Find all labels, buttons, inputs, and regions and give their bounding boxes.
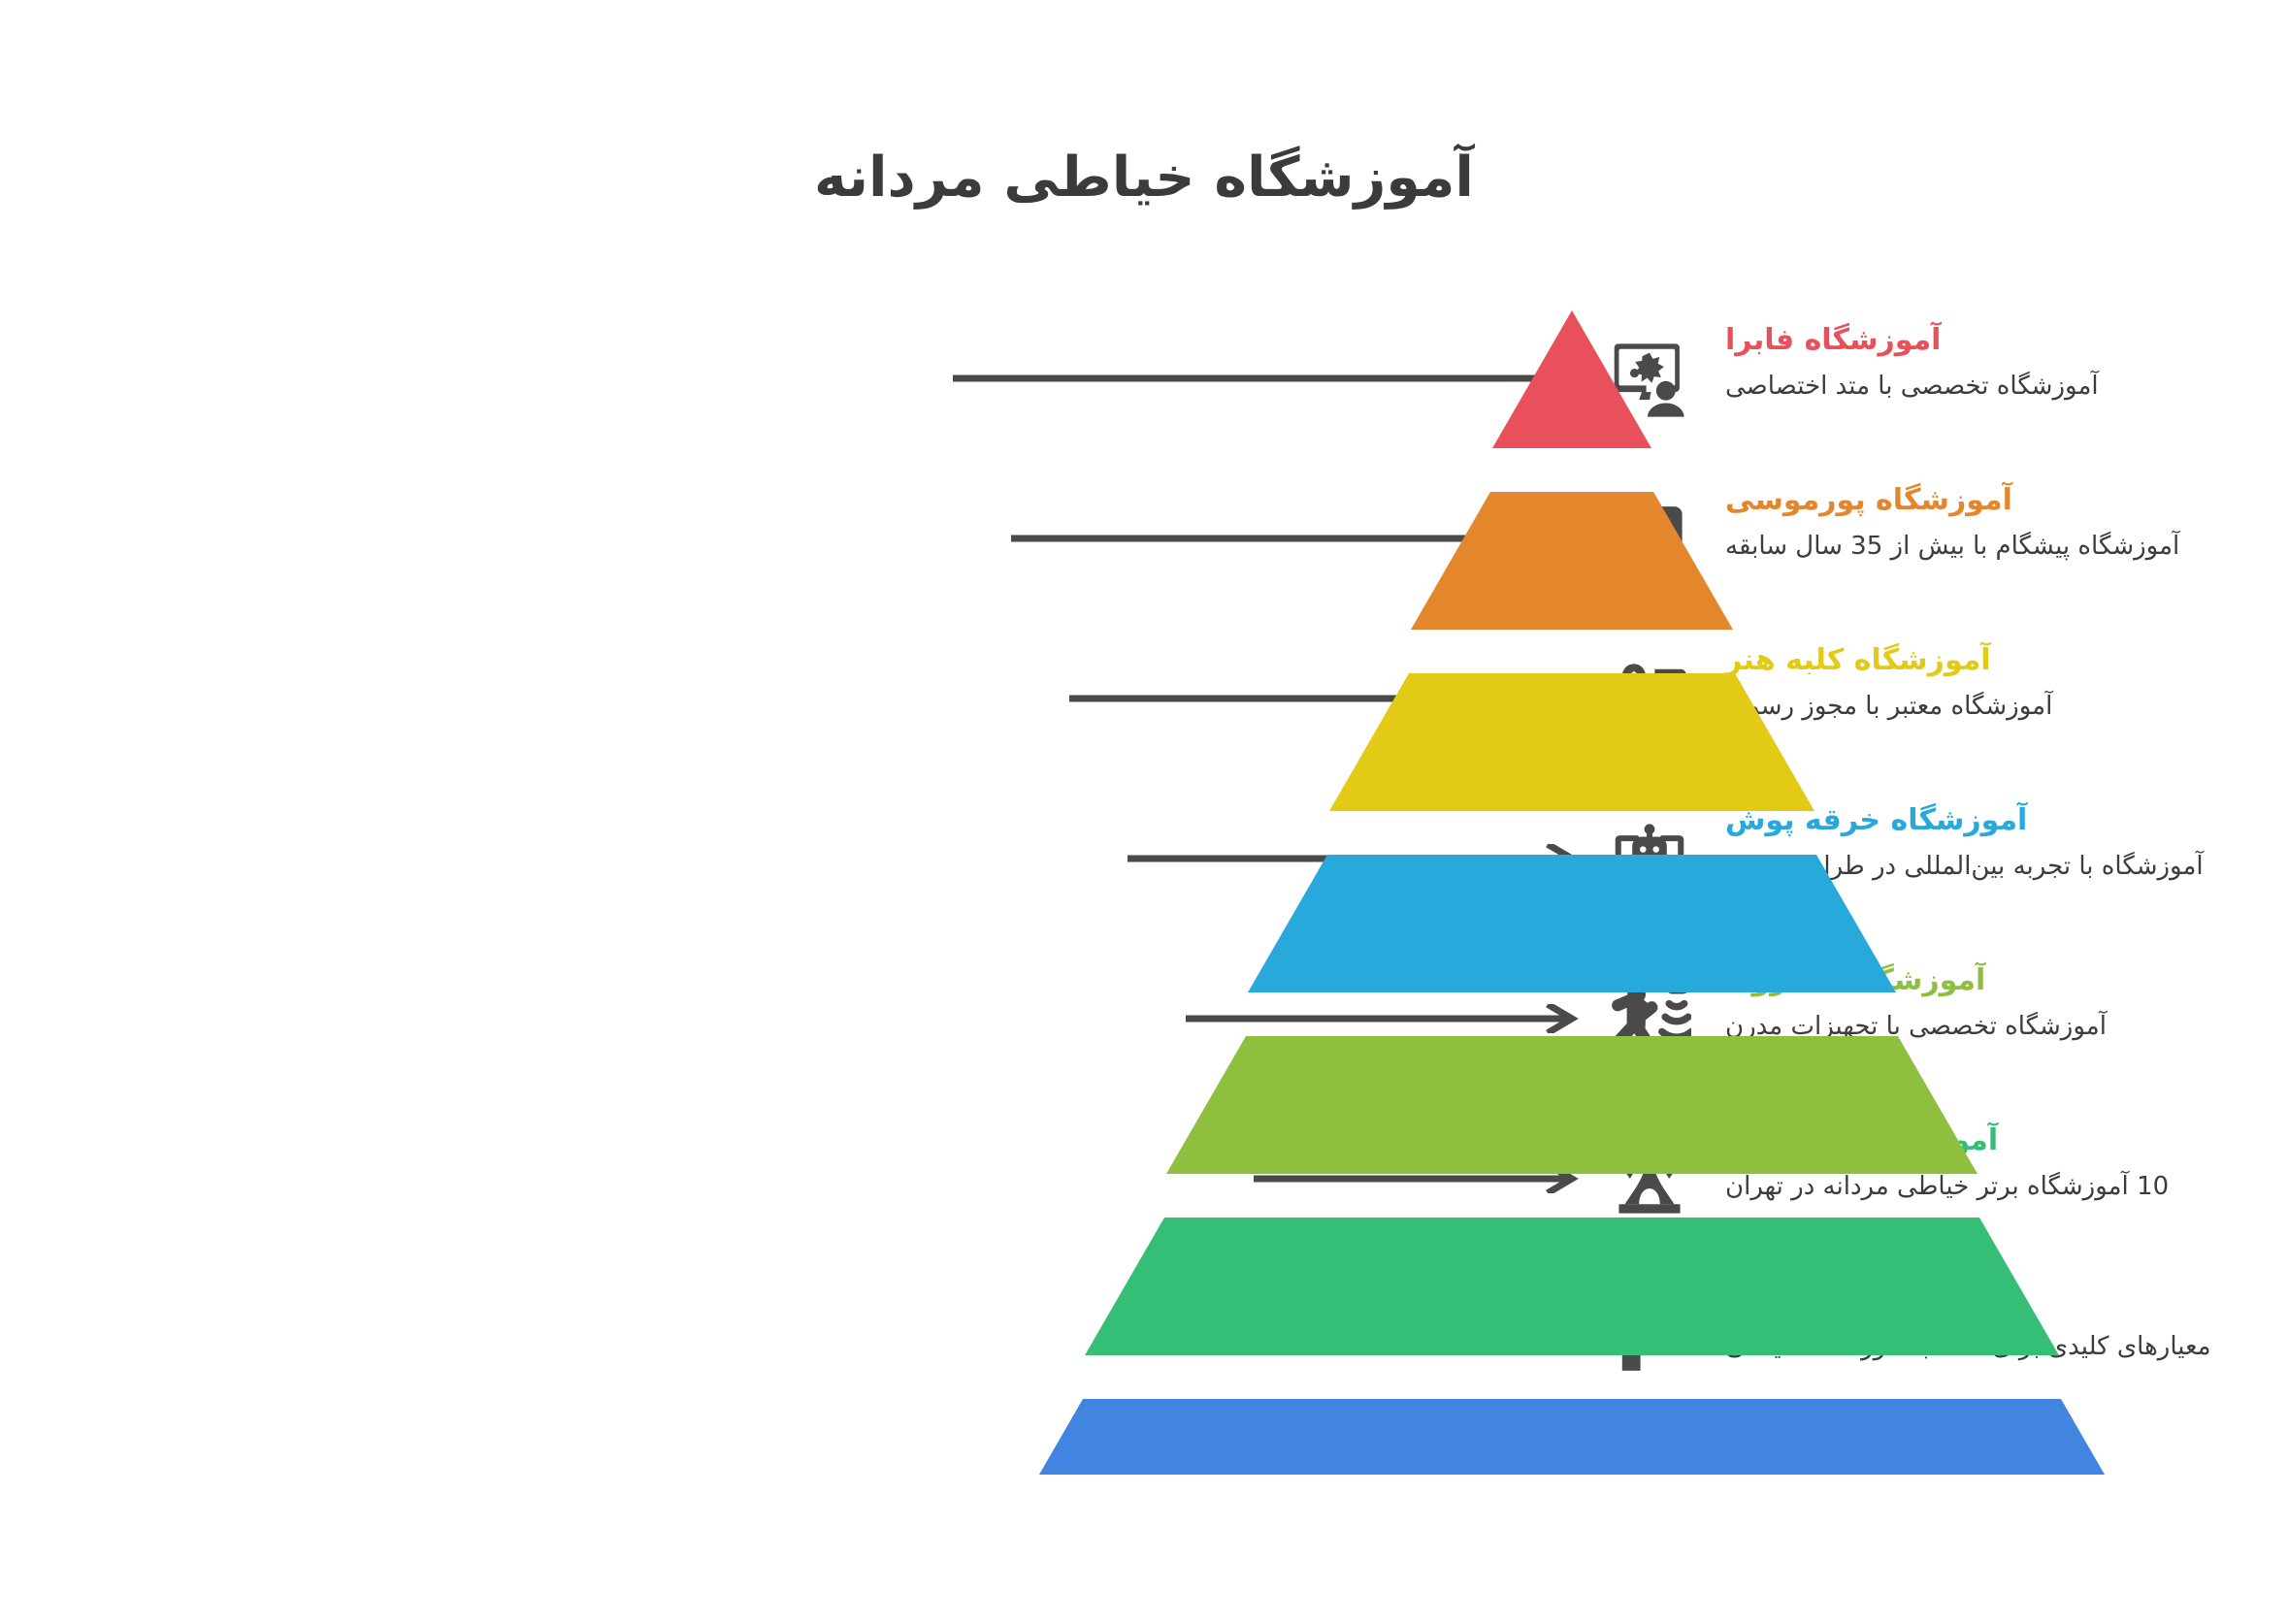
pyramid-chart <box>912 310 2232 1475</box>
pyramid-level-1[interactable] <box>1492 310 1651 448</box>
pyramid-level-4[interactable] <box>1248 855 1896 992</box>
pyramid-level-5[interactable] <box>1166 1036 1977 1174</box>
pyramid-level-3[interactable] <box>1329 673 1814 811</box>
page-title: آموزشگاه خیاطی مردانه <box>0 146 2288 210</box>
pyramid-level-2[interactable] <box>1411 492 1733 630</box>
infographic-canvas: آموزشگاه خیاطی مردانه آموزشگاه فابرا آمو… <box>0 0 2288 1624</box>
pyramid-level-6[interactable] <box>1085 1218 2059 1355</box>
pyramid-level-7[interactable] <box>1003 1399 2141 1475</box>
